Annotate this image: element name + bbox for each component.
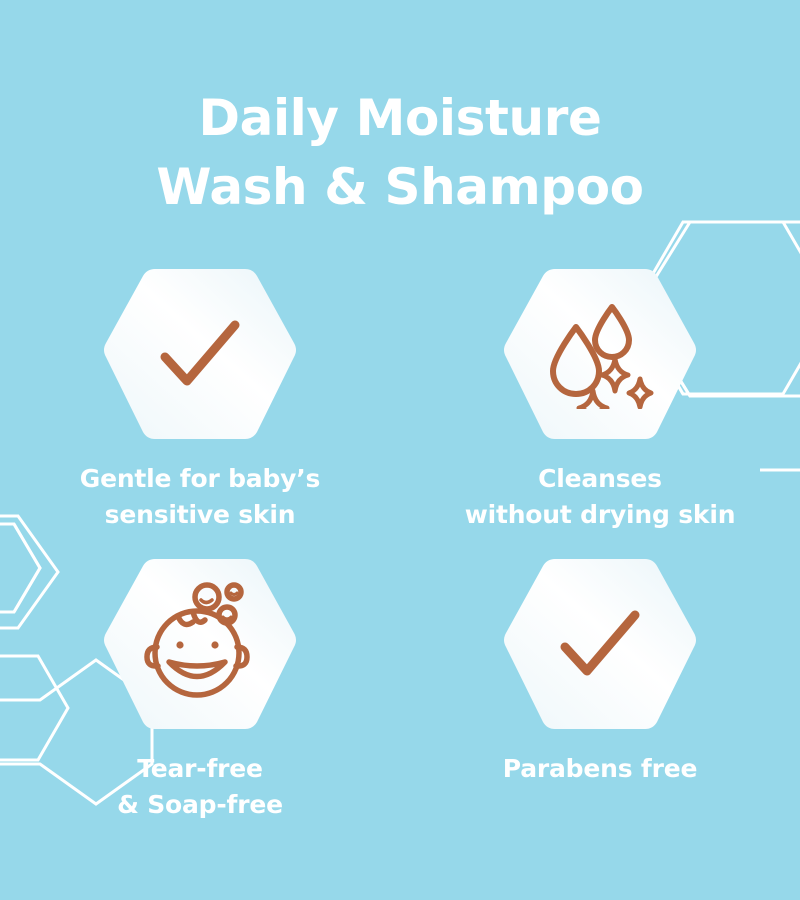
feature-gentle-badge [102, 265, 298, 443]
page-title: Daily Moisture Wash & Shampoo [0, 84, 800, 222]
baby-face-bubbles-icon [135, 579, 265, 709]
title-line-2: Wash & Shampoo [0, 153, 800, 222]
feature-gentle: Gentle for baby’s sensitive skin [0, 265, 400, 555]
water-droplets-sparkles-icon [545, 299, 655, 409]
checkmark-icon [145, 299, 255, 409]
feature-grid: Gentle for baby’s sensitive skin [0, 265, 800, 845]
feature-parabens-free: Parabens free [400, 555, 800, 845]
feature-tear-free-caption: Tear-free & Soap-free [117, 751, 283, 822]
feature-parabens-free-caption: Parabens free [503, 751, 697, 787]
checkmark-icon [545, 589, 655, 699]
feature-cleanses: Cleanses without drying skin [400, 265, 800, 555]
title-line-1: Daily Moisture [0, 84, 800, 153]
feature-tear-free-badge [102, 555, 298, 733]
feature-tear-free: Tear-free & Soap-free [0, 555, 400, 845]
feature-gentle-caption: Gentle for baby’s sensitive skin [80, 461, 320, 532]
infographic-root: Daily Moisture Wash & Shampoo [0, 0, 800, 900]
feature-parabens-free-badge [502, 555, 698, 733]
feature-cleanses-badge [502, 265, 698, 443]
feature-cleanses-caption: Cleanses without drying skin [465, 461, 736, 532]
